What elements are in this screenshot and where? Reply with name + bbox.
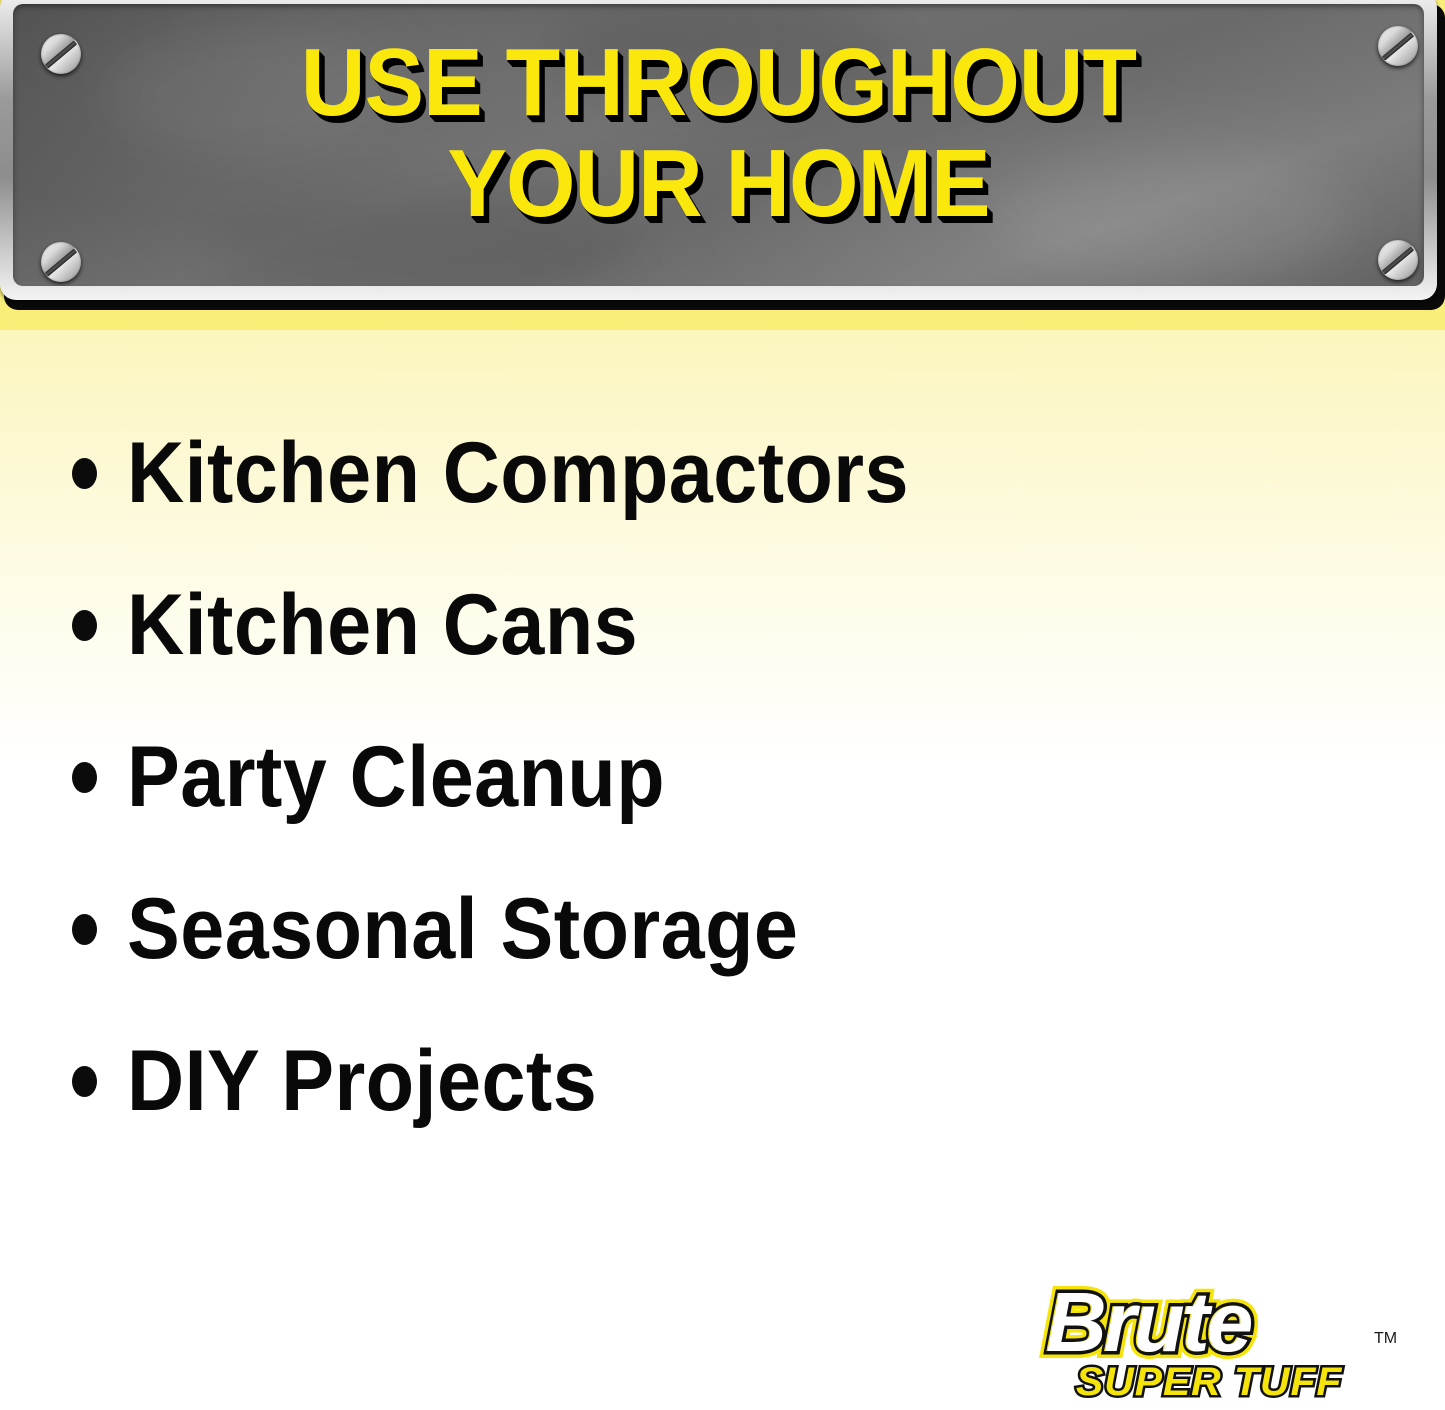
metal-plate-frame: USE THROUGHOUT YOUR HOME (0, 0, 1437, 300)
list-item: DIY Projects (72, 1036, 638, 1126)
list-item: Kitchen Compactors (72, 428, 977, 518)
list-item-label: DIY Projects (127, 1036, 597, 1126)
list-item-label: Kitchen Cans (127, 580, 638, 670)
use-case-list: Kitchen Compactors Kitchen Cans Party Cl… (0, 330, 1445, 1260)
list-item-label: Party Cleanup (127, 732, 665, 822)
screw-icon-bottom-right (1378, 240, 1418, 280)
screw-icon-bottom-left (41, 242, 81, 282)
screw-icon-top-right (1378, 26, 1418, 66)
bullet-dot-icon (72, 458, 97, 489)
brute-logo: Brute Brute SUPER TUFF TM (1046, 1278, 1406, 1402)
trademark-symbol: TM (1374, 1330, 1397, 1348)
sign-title-line-1: USE THROUGHOUT (62, 32, 1374, 133)
header-sign: USE THROUGHOUT YOUR HOME (0, 0, 1445, 330)
bullet-dot-icon (72, 914, 97, 945)
bullet-dot-icon (72, 762, 97, 793)
bullet-dot-icon (72, 1066, 97, 1097)
product-feature-image: USE THROUGHOUT YOUR HOME Kitchen Compact… (0, 0, 1445, 1410)
sign-title-line-2: YOUR HOME (62, 133, 1374, 234)
list-item: Kitchen Cans (72, 580, 683, 670)
bullet-dot-icon (72, 610, 97, 641)
list-item: Seasonal Storage (72, 884, 857, 974)
sign-title: USE THROUGHOUT YOUR HOME (62, 32, 1374, 234)
brute-wordmark: Brute (1046, 1278, 1376, 1366)
list-item: Party Cleanup (72, 732, 712, 822)
metal-plate-face: USE THROUGHOUT YOUR HOME (13, 4, 1424, 286)
brute-tagline: SUPER TUFF (1076, 1362, 1342, 1402)
list-item-label: Seasonal Storage (127, 884, 798, 974)
list-item-label: Kitchen Compactors (127, 428, 909, 518)
